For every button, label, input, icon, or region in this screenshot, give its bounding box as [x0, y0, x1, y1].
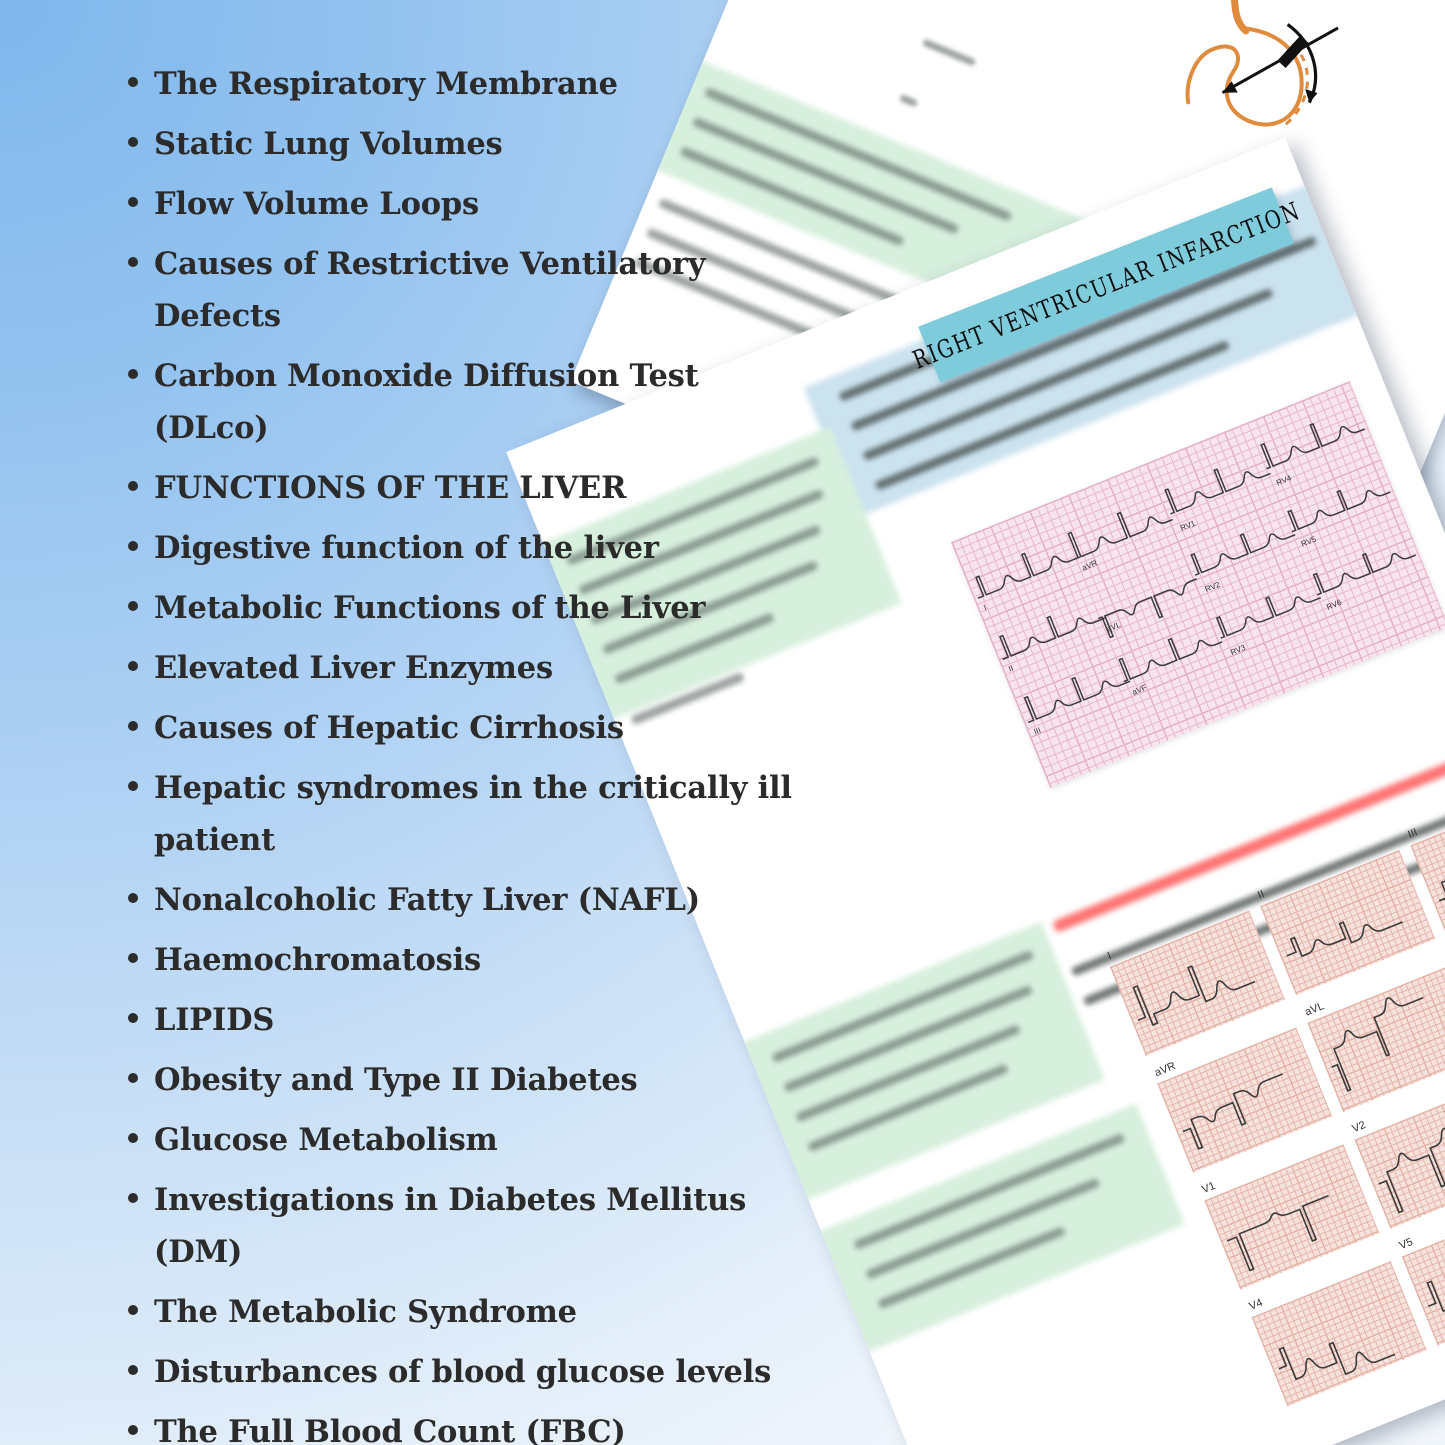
ecg-lead-label: I — [982, 603, 987, 612]
bullet-icon — [128, 781, 138, 791]
bullet-icon — [128, 369, 138, 379]
ecg-lead-label: II — [1256, 888, 1266, 901]
list-item-label: Static Lung Volumes — [154, 118, 503, 170]
list-item[interactable]: FUNCTIONS OF THE LIVER — [128, 462, 828, 514]
bullet-icon — [128, 721, 138, 731]
bullet-icon — [128, 601, 138, 611]
list-item[interactable]: Static Lung Volumes — [128, 118, 828, 170]
bullet-icon — [128, 1193, 138, 1203]
ecg-lead-label: RV4 — [1275, 473, 1293, 487]
list-item-label: Metabolic Functions of the Liver — [154, 582, 705, 634]
ecg-lead-label: aVF — [1131, 683, 1148, 697]
list-item-label: Glucose Metabolism — [154, 1114, 498, 1166]
list-item[interactable]: The Respiratory Membrane — [128, 58, 828, 110]
list-item-label: Investigations in Diabetes Mellitus (DM) — [154, 1174, 804, 1278]
list-item[interactable]: Haemochromatosis — [128, 934, 828, 986]
list-item-label: Causes of Hepatic Cirrhosis — [154, 702, 624, 754]
list-item[interactable]: Metabolic Functions of the Liver — [128, 582, 828, 634]
list-item-label: Hepatic syndromes in the critically ill … — [154, 762, 804, 866]
list-item[interactable]: Flow Volume Loops — [128, 178, 828, 230]
ecg-lead-label: RV3 — [1229, 643, 1247, 657]
list-item-label: Carbon Monoxide Diffusion Test (DLco) — [154, 350, 804, 454]
ecg-lead-label: V1 — [1200, 1180, 1217, 1196]
list-item[interactable]: Digestive function of the liver — [128, 522, 828, 574]
list-item-label: Elevated Liver Enzymes — [154, 642, 553, 694]
page-heading-blurred — [1367, 0, 1445, 18]
list-item[interactable]: Obesity and Type II Diabetes — [128, 1054, 828, 1106]
ecg-lead-label: V2 — [1350, 1119, 1367, 1135]
list-item-label: Causes of Restrictive Ventilatory Defect… — [154, 238, 804, 342]
list-item[interactable]: Hepatic syndromes in the critically ill … — [128, 762, 828, 866]
ecg-lead-label: V5 — [1398, 1236, 1415, 1252]
list-item[interactable]: Disturbances of blood glucose levels — [128, 1346, 828, 1398]
list-item-label: Haemochromatosis — [154, 934, 481, 986]
list-item-label: Nonalcoholic Fatty Liver (NAFL) — [154, 874, 700, 926]
bullet-icon — [128, 481, 138, 491]
list-item-label: Obesity and Type II Diabetes — [154, 1054, 638, 1106]
bullet-icon — [128, 541, 138, 551]
bullet-icon — [128, 197, 138, 207]
bullet-icon — [128, 1073, 138, 1083]
bullet-icon — [128, 1305, 138, 1315]
bullet-icon — [128, 137, 138, 147]
bullet-icon — [128, 257, 138, 267]
list-item[interactable]: Causes of Hepatic Cirrhosis — [128, 702, 828, 754]
list-item-label: Disturbances of blood glucose levels — [154, 1346, 771, 1398]
list-item[interactable]: Nonalcoholic Fatty Liver (NAFL) — [128, 874, 828, 926]
ecg-lead-label: RV2 — [1204, 580, 1222, 594]
list-item[interactable]: Causes of Restrictive Ventilatory Defect… — [128, 238, 828, 342]
list-item-label: Flow Volume Loops — [154, 178, 479, 230]
bullet-icon — [128, 1133, 138, 1143]
table-of-contents: The Respiratory Membrane Static Lung Vol… — [128, 58, 828, 1445]
ecg-lead-label: I — [1106, 950, 1113, 962]
diagram-caption-blurred — [899, 94, 918, 107]
list-item-label: Digestive function of the liver — [154, 522, 659, 574]
ecg-lead-label: II — [1007, 663, 1015, 673]
ecg-lead-label: RV1 — [1179, 519, 1197, 533]
slide-canvas: RIGHT VENTRICULAR INFARCTION I II III — [0, 0, 1445, 1445]
ecg-lead-label: V4 — [1247, 1297, 1264, 1313]
bullet-icon — [128, 1365, 138, 1375]
list-item[interactable]: Carbon Monoxide Diffusion Test (DLco) — [128, 350, 828, 454]
bullet-icon — [128, 1013, 138, 1023]
list-item[interactable]: LIPIDS — [128, 994, 828, 1046]
ecg-lead-label: RV5 — [1300, 534, 1318, 548]
bullet-icon — [128, 953, 138, 963]
ecg-trace — [1307, 967, 1445, 1112]
list-item-label: LIPIDS — [154, 994, 274, 1046]
list-item[interactable]: The Metabolic Syndrome — [128, 1286, 828, 1338]
list-item[interactable]: The Full Blood Count (FBC) — [128, 1406, 828, 1445]
bullet-icon — [128, 661, 138, 671]
flow-volume-loop-diagram-1 — [890, 0, 1200, 107]
list-item-label: The Metabolic Syndrome — [154, 1286, 577, 1338]
bullet-icon — [128, 77, 138, 87]
list-item-label: FUNCTIONS OF THE LIVER — [154, 462, 626, 514]
list-item[interactable]: Elevated Liver Enzymes — [128, 642, 828, 694]
ecg-lead-label: RV6 — [1325, 597, 1343, 611]
list-item[interactable]: Glucose Metabolism — [128, 1114, 828, 1166]
bullet-icon — [128, 1425, 138, 1435]
list-item-label: The Respiratory Membrane — [154, 58, 618, 110]
ecg-lead-label: III — [1033, 726, 1043, 737]
list-item-label: The Full Blood Count (FBC) — [154, 1406, 626, 1445]
ecg-lead-label: aVR — [1081, 558, 1099, 572]
bullet-icon — [128, 893, 138, 903]
list-item[interactable]: Investigations in Diabetes Mellitus (DM) — [128, 1174, 828, 1278]
ecg-lead-label: III — [1406, 826, 1419, 841]
